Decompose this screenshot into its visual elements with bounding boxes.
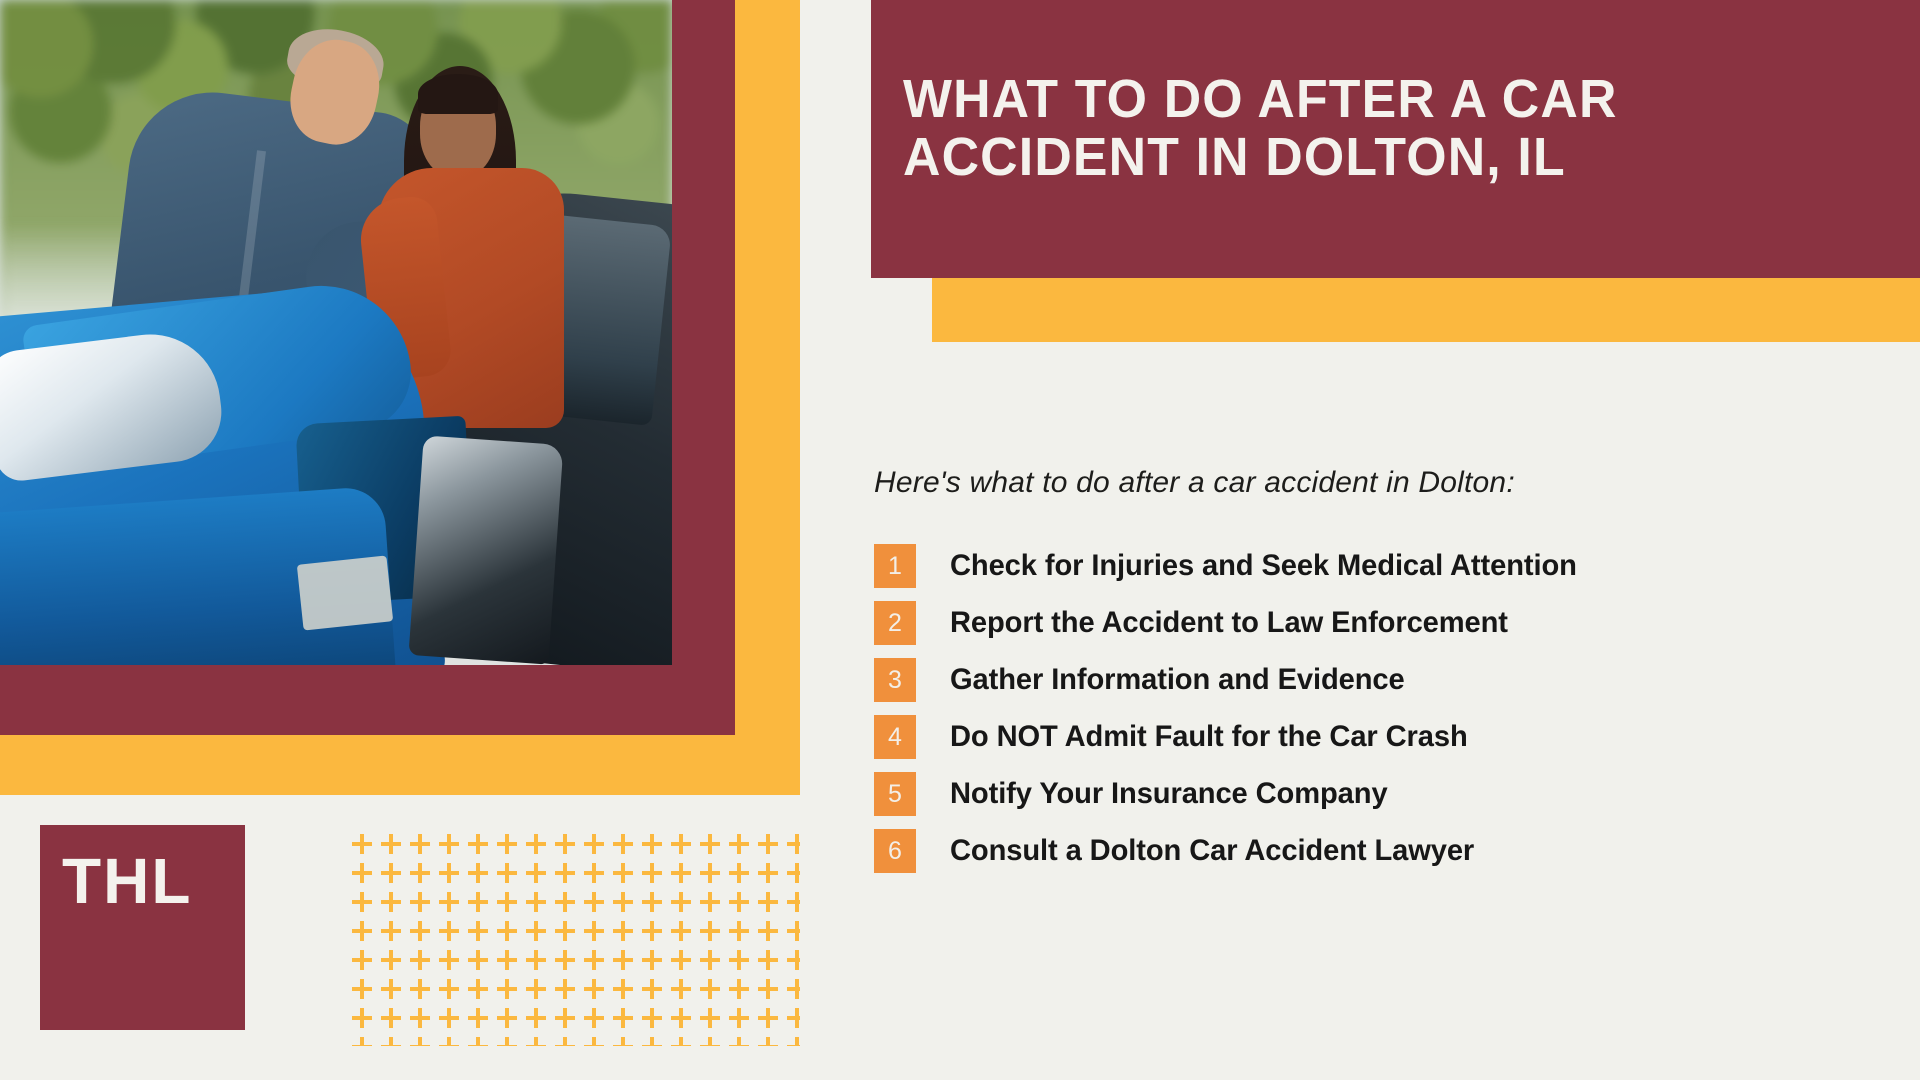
list-item: 4 Do NOT Admit Fault for the Car Crash <box>874 715 1874 759</box>
photo-woman-hairline <box>418 74 498 114</box>
list-item: 5 Notify Your Insurance Company <box>874 772 1874 816</box>
list-item: 2 Report the Accident to Law Enforcement <box>874 601 1874 645</box>
step-number-badge: 1 <box>874 544 916 588</box>
photo-license-plate <box>297 555 393 630</box>
step-number-badge: 4 <box>874 715 916 759</box>
step-label: Check for Injuries and Seek Medical Atte… <box>950 549 1577 583</box>
step-number-badge: 5 <box>874 772 916 816</box>
step-label: Report the Accident to Law Enforcement <box>950 606 1508 640</box>
steps-list: 1 Check for Injuries and Seek Medical At… <box>874 544 1874 886</box>
list-item: 3 Gather Information and Evidence <box>874 658 1874 702</box>
header-yellow-stripe <box>737 0 795 298</box>
step-number-badge: 2 <box>874 601 916 645</box>
step-label: Do NOT Admit Fault for the Car Crash <box>950 720 1468 754</box>
title-block: What To Do After A Car Accident In Dolto… <box>871 0 1920 278</box>
thl-logo: THL <box>40 825 245 1030</box>
thl-logo-text: THL <box>62 849 192 913</box>
step-label: Consult a Dolton Car Accident Lawyer <box>950 834 1474 868</box>
step-label: Gather Information and Evidence <box>950 663 1405 697</box>
list-item: 1 Check for Injuries and Seek Medical At… <box>874 544 1874 588</box>
header-accent-bar <box>932 278 1920 342</box>
plus-pattern-decoration <box>352 834 800 1046</box>
step-number-badge: 3 <box>874 658 916 702</box>
accident-photo <box>0 0 672 665</box>
photo-dark-car-damage <box>408 435 563 664</box>
step-label: Notify Your Insurance Company <box>950 777 1388 811</box>
list-item: 6 Consult a Dolton Car Accident Lawyer <box>874 829 1874 873</box>
step-number-badge: 6 <box>874 829 916 873</box>
infographic-canvas: THL What To Do After A Car Accident In D… <box>0 0 1920 1080</box>
intro-text: Here's what to do after a car accident i… <box>874 466 1515 500</box>
header-maroon-stripe <box>672 0 735 278</box>
photo-scene <box>0 0 672 665</box>
page-title: What To Do After A Car Accident In Dolto… <box>903 70 1690 187</box>
